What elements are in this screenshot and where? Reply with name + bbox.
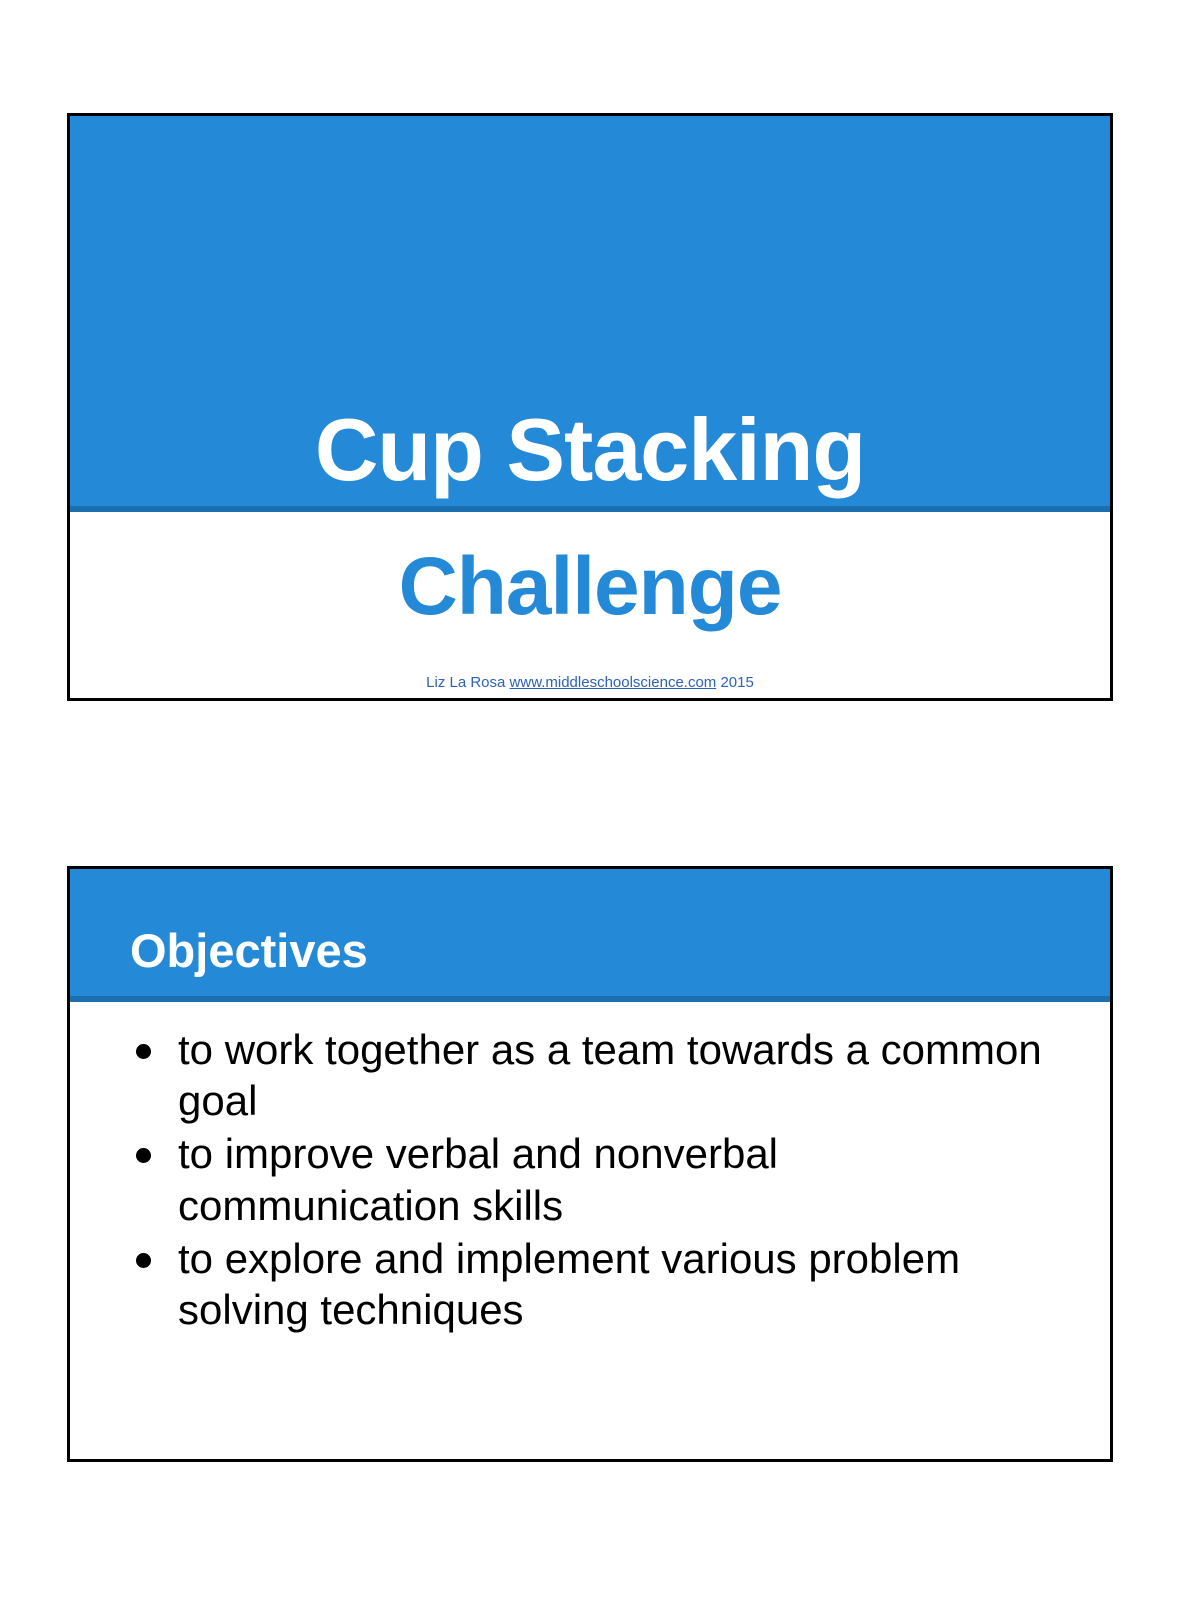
bullet-point-icon xyxy=(136,1044,151,1059)
slide-title-heading: Cup Stacking xyxy=(315,406,865,506)
list-item-label: to explore and implement various problem… xyxy=(178,1235,960,1333)
attribution-author: Liz La Rosa xyxy=(426,674,505,691)
objectives-heading: Objectives xyxy=(70,927,368,996)
list-item-label: to work together as a team towards a com… xyxy=(178,1026,1042,1124)
bullet-point-icon xyxy=(136,1148,151,1163)
list-item: to improve verbal and nonverbal communic… xyxy=(122,1128,1070,1230)
bullet-point-icon xyxy=(136,1253,151,1268)
objectives-slide-body: to work together as a team towards a com… xyxy=(70,1002,1110,1459)
attribution-line: Liz La Rosa www.middleschoolscience.com … xyxy=(70,674,1110,691)
list-item-label: to improve verbal and nonverbal communic… xyxy=(178,1130,778,1228)
title-slide-body: Challenge Liz La Rosa www.middleschoolsc… xyxy=(70,512,1110,698)
title-slide: Cup Stacking Challenge Liz La Rosa www.m… xyxy=(67,113,1113,701)
title-slide-header-band: Cup Stacking xyxy=(70,116,1110,512)
list-item: to explore and implement various problem… xyxy=(122,1233,1070,1335)
objectives-slide-header-band: Objectives xyxy=(70,869,1110,1002)
slide-title-subtitle: Challenge xyxy=(70,546,1110,628)
attribution-year: 2015 xyxy=(720,674,753,691)
list-item: to work together as a team towards a com… xyxy=(122,1024,1070,1126)
objectives-slide: Objectives to work together as a team to… xyxy=(67,866,1113,1462)
objectives-bullet-list: to work together as a team towards a com… xyxy=(122,1024,1070,1335)
attribution-website-link[interactable]: www.middleschoolscience.com xyxy=(510,674,717,691)
